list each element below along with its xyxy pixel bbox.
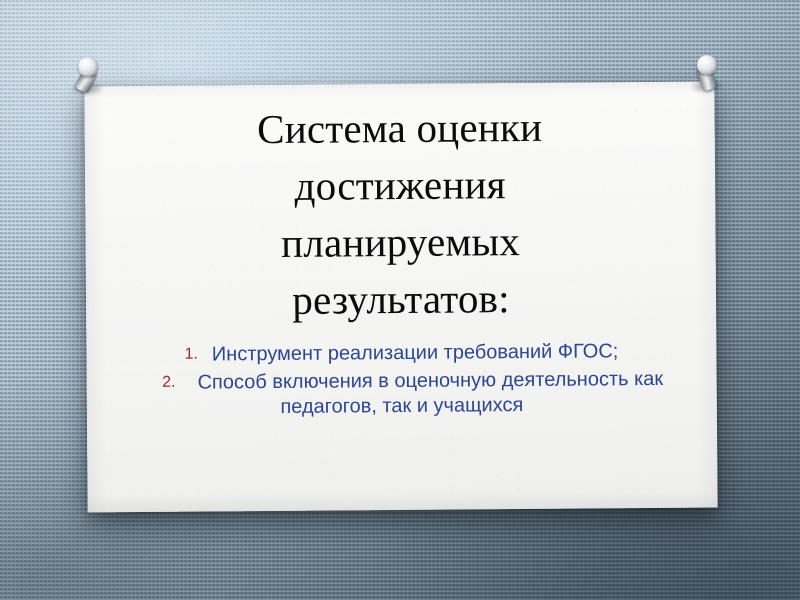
list-text-2: Способ включения в оценочную деятельност… <box>197 368 663 418</box>
list-item: 2.Способ включения в оценочную деятельно… <box>121 366 683 421</box>
title-line-1: Система оценки <box>118 98 680 159</box>
paper-card: Система оценки достижения планируемых ре… <box>84 82 717 513</box>
title-line-4: результатов: <box>120 269 682 330</box>
pushpin-head <box>697 55 717 75</box>
list-item: 1.Инструмент реализации требований ФГОС; <box>120 338 682 368</box>
list-marker-2: 2. <box>162 374 175 391</box>
list-text-1: Инструмент реализации требований ФГОС; <box>212 340 619 365</box>
pushpin-icon <box>688 54 728 100</box>
pushpin-icon <box>68 56 108 102</box>
title-line-3: планируемых <box>119 212 681 273</box>
slide-canvas: Система оценки достижения планируемых ре… <box>0 0 800 600</box>
title-line-2: достижения <box>119 155 681 216</box>
pushpin-head <box>78 57 98 77</box>
numbered-list: 1.Инструмент реализации требований ФГОС;… <box>120 338 683 421</box>
list-marker-1: 1. <box>184 346 197 363</box>
slide-content: Система оценки достижения планируемых ре… <box>84 82 717 513</box>
slide-title: Система оценки достижения планируемых ре… <box>118 92 682 330</box>
